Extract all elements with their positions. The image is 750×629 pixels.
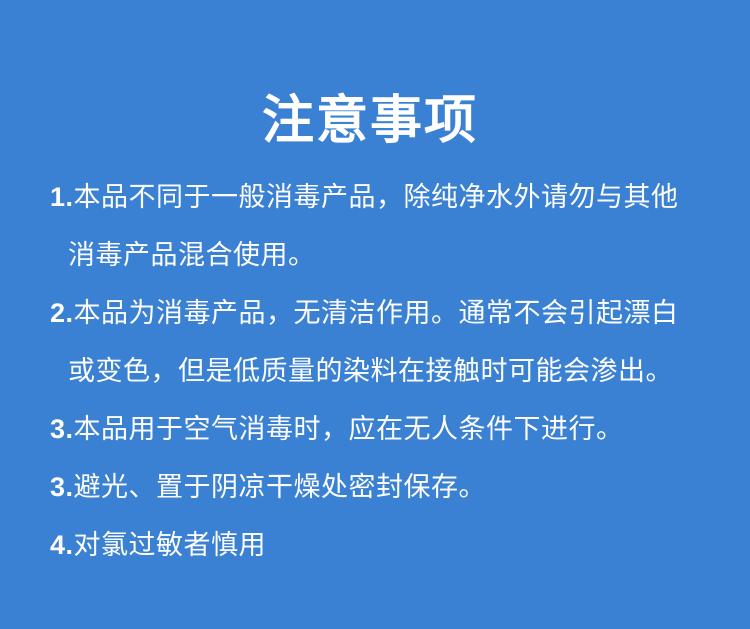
list-item-number: 1.: [50, 182, 74, 212]
notice-list: 1.本品不同于一般消毒产品，除纯净水外请勿与其他消毒产品混合使用。 2.本品为消…: [50, 168, 705, 574]
list-item-number: 2.: [50, 298, 74, 328]
page-title: 注意事项: [0, 92, 750, 150]
list-item-text: 本品为消毒产品，无清洁作用。通常不会引起漂白或变色，但是低质量的染料在接触时可能…: [68, 298, 679, 386]
list-item-text: 本品不同于一般消毒产品，除纯净水外请勿与其他消毒产品混合使用。: [68, 182, 679, 270]
list-item: 3.本品用于空气消毒时，应在无人条件下进行。: [50, 400, 705, 458]
list-item-number: 3.: [50, 472, 74, 502]
notice-panel: 注意事项 1.本品不同于一般消毒产品，除纯净水外请勿与其他消毒产品混合使用。 2…: [0, 0, 750, 629]
list-item-number: 3.: [50, 414, 74, 444]
list-item: 2.本品为消毒产品，无清洁作用。通常不会引起漂白或变色，但是低质量的染料在接触时…: [50, 284, 705, 400]
list-item: 1.本品不同于一般消毒产品，除纯净水外请勿与其他消毒产品混合使用。: [50, 168, 705, 284]
list-item-number: 4.: [50, 530, 74, 560]
list-item: 3.避光、置于阴凉干燥处密封保存。: [50, 458, 705, 516]
list-item-text: 避光、置于阴凉干燥处密封保存。: [74, 472, 487, 502]
list-item-text: 对氯过敏者慎用: [74, 530, 267, 560]
list-item-text: 本品用于空气消毒时，应在无人条件下进行。: [74, 414, 624, 444]
list-item: 4.对氯过敏者慎用: [50, 516, 705, 574]
